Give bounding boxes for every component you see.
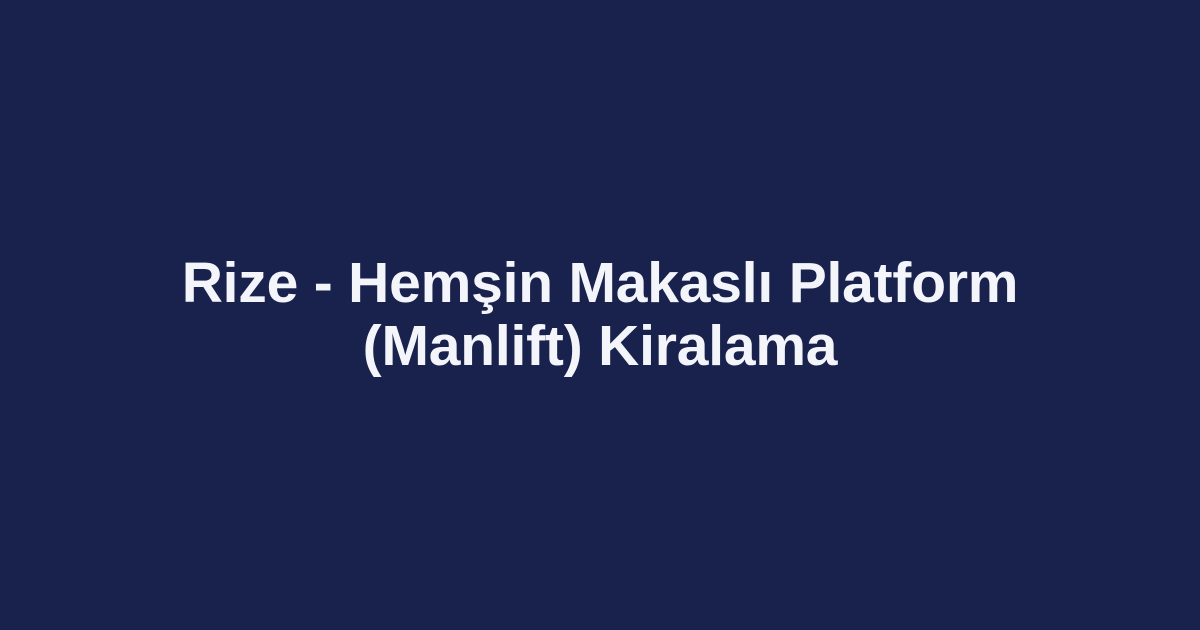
share-banner-card: Rize - Hemşin Makaslı Platform (Manlift)…	[0, 0, 1200, 630]
page-title: Rize - Hemşin Makaslı Platform (Manlift)…	[170, 252, 1030, 377]
banner-title-block: Rize - Hemşin Makaslı Platform (Manlift)…	[170, 252, 1030, 377]
